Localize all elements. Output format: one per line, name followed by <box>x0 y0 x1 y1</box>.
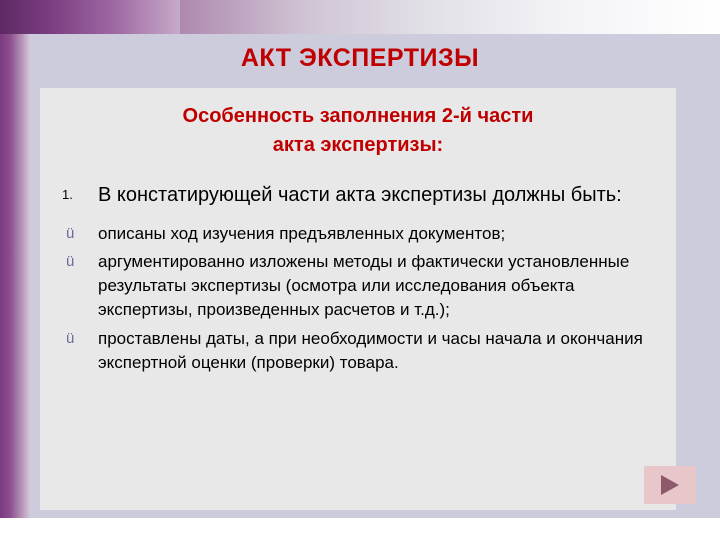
content-box: Особенность заполнения 2-й части акта эк… <box>40 88 676 510</box>
check-marker-icon: ü <box>66 328 74 349</box>
page-title: АКТ ЭКСПЕРТИЗЫ <box>30 44 690 73</box>
top-decor-band <box>0 0 720 34</box>
list-item-text: описаны ход изучения предъявленных докум… <box>98 224 505 243</box>
check-list: ü описаны ход изучения предъявленных док… <box>62 222 650 375</box>
check-marker-icon: ü <box>66 251 74 272</box>
left-decor-strip <box>0 0 30 540</box>
subtitle: Особенность заполнения 2-й части акта эк… <box>70 102 646 160</box>
numbered-item-text: В констатирующей части акта экспертизы д… <box>98 184 622 206</box>
bottom-decor-band <box>0 518 720 540</box>
left-strip-bottom-cap <box>0 518 30 540</box>
list-item-text: аргументированно изложены методы и факти… <box>98 252 629 319</box>
check-marker-icon: ü <box>66 223 74 244</box>
list-number-marker: 1. <box>62 187 73 204</box>
play-arrow-icon <box>657 473 683 497</box>
slide: АКТ ЭКСПЕРТИЗЫ Особенность заполнения 2-… <box>0 0 720 540</box>
list-item: ü аргументированно изложены методы и фак… <box>62 250 650 322</box>
top-decor-band-inner <box>0 0 180 34</box>
subtitle-line-2: акта экспертизы: <box>70 131 646 160</box>
subtitle-line-1: Особенность заполнения 2-й части <box>70 102 646 131</box>
next-slide-button[interactable] <box>644 466 696 504</box>
numbered-item: 1. В констатирующей части акта экспертиз… <box>62 182 650 208</box>
list-item: ü проставлены даты, а при необходимости … <box>62 327 650 375</box>
list-item-text: проставлены даты, а при необходимости и … <box>98 329 643 372</box>
list-item: ü описаны ход изучения предъявленных док… <box>62 222 650 246</box>
